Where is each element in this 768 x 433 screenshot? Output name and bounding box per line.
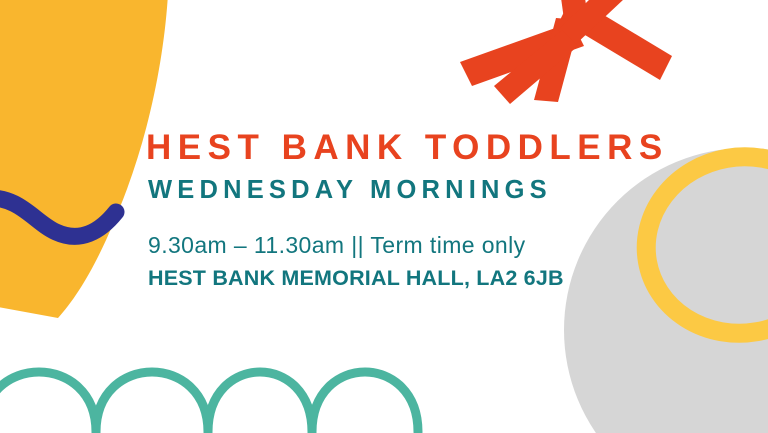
red-asterisk-burst [460, 0, 672, 104]
flyer-canvas: HEST BANK TODDLERS WEDNESDAY MORNINGS 9.… [0, 0, 768, 433]
flyer-time-info: 9.30am – 11.30am || Term time only [148, 230, 666, 261]
flyer-venue-info: HEST BANK MEMORIAL HALL, LA2 6JB [148, 264, 666, 293]
flyer-subtitle: WEDNESDAY MORNINGS [148, 172, 666, 208]
yellow-wedge-shape [0, 0, 168, 318]
mint-arches-scallop [0, 372, 418, 432]
page-title: HEST BANK TODDLERS [146, 126, 666, 170]
navy-wave-squiggle [0, 198, 116, 236]
flyer-text-block: HEST BANK TODDLERS WEDNESDAY MORNINGS 9.… [146, 126, 666, 293]
